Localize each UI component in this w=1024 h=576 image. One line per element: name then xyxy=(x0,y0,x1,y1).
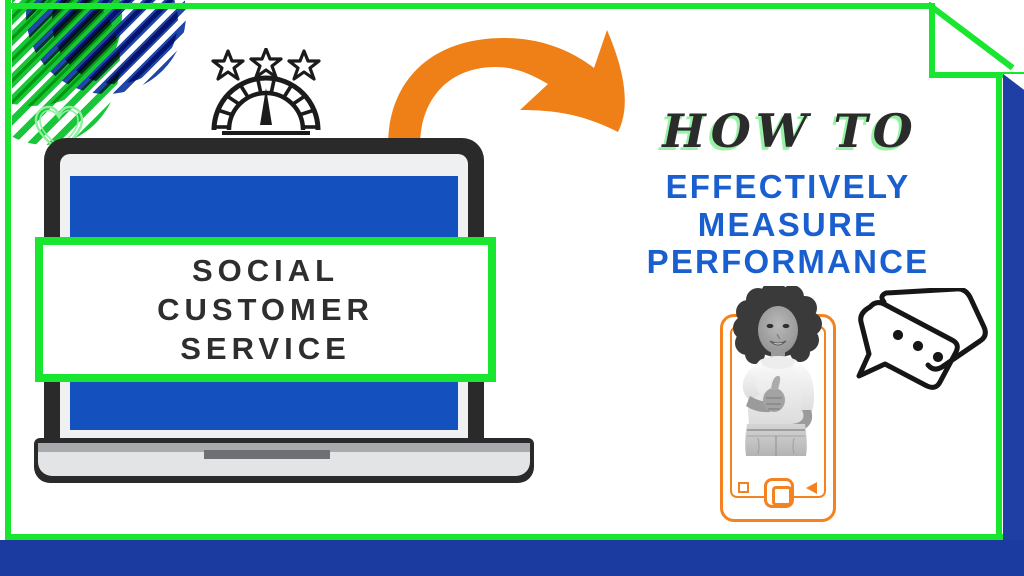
banner-line-2: CUSTOMER xyxy=(157,290,374,329)
banner-inner: SOCIAL CUSTOMER SERVICE xyxy=(43,245,488,374)
bottom-blue-band xyxy=(0,540,1024,576)
frame-border-right-taper xyxy=(1003,74,1024,90)
phone-photo-group xyxy=(712,300,852,522)
headline-eyebrow: HOW TO xyxy=(600,104,980,158)
frame-border-left xyxy=(5,0,11,540)
folded-corner-diagonal xyxy=(929,2,1024,82)
headline-line-1: EFFECTIVELY xyxy=(588,168,988,206)
poster-canvas: SOCIAL CUSTOMER SERVICE HOW TO EFFECTIVE… xyxy=(0,0,1024,576)
headline-block: EFFECTIVELY MEASURE PERFORMANCE xyxy=(588,168,988,281)
social-customer-service-banner: SOCIAL CUSTOMER SERVICE xyxy=(35,237,496,382)
woman-thumbs-up-photo xyxy=(714,286,854,486)
chat-bubbles-icon xyxy=(848,288,990,410)
banner-line-3: SERVICE xyxy=(180,329,351,368)
speedometer-rating-icon xyxy=(198,48,334,138)
frame-border-right-green xyxy=(996,76,1002,540)
frame-border-top xyxy=(5,3,935,9)
banner-line-1: SOCIAL xyxy=(192,251,339,290)
laptop-hinge-bar xyxy=(204,450,330,459)
headline-line-3: PERFORMANCE xyxy=(588,243,988,281)
frame-border-right-blue xyxy=(1003,74,1024,540)
headline-line-2: MEASURE xyxy=(588,206,988,244)
